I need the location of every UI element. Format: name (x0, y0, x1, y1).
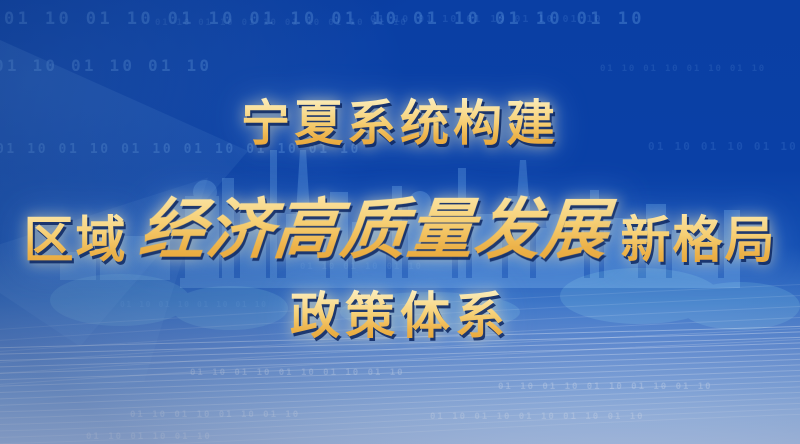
edge-vignette (0, 0, 800, 444)
poster-canvas: 01 10 01 10 01 10 01 10 01 10 01 10 01 1… (0, 0, 800, 444)
